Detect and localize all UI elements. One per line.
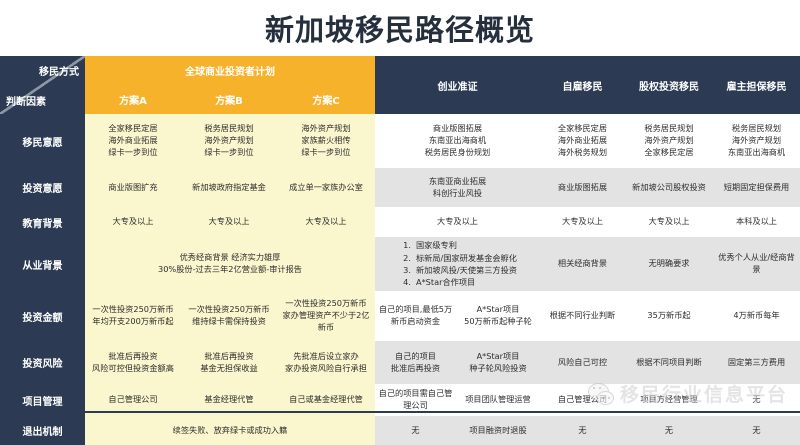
cell-lines: 批准后再投资 风险可控但投资金额高 [85,349,181,377]
cell-migration-equity: 税务居民规划 海外资产规划 全家移民定居 [625,114,713,168]
cell-lines: 项目方经营管理 [625,392,713,408]
line: 家族薪火相传 [301,135,350,147]
cell-experience-self-employed: 相关经商背景 [540,237,625,291]
line: 绿卡一步到位 [204,147,253,159]
line: 一次性投资250万新币 [188,304,269,316]
line: 一次性投资250万新币 [92,304,173,316]
cell-amount-entrepass-astar: A*Star项目 50万新币起种子轮 [456,291,540,341]
cell-lines: 一次性投资250万新币 年均开支200万新币起 [85,302,181,330]
cell-lines: 大专及以上 [85,214,181,230]
line: 优秀个人从业/经商背景 [716,252,797,276]
list-number: 4. [402,276,411,288]
cell-education-plan-a: 大专及以上 [85,207,181,237]
header-group-gip[interactable]: 全球商业投资者计划 [85,56,375,85]
cell-amount-plan-c: 一次性投资250万新币 家办管理资产不少于2亿新币 [277,291,375,341]
cell-lines: 大专及以上 [277,214,375,230]
cell-lines: 新加坡公司股权投资 [625,180,713,196]
cell-invintent-employer: 短期固定担保费用 [713,168,800,207]
list-text: 标新局/国家研发基金会孵化 [416,252,517,264]
cell-lines: 无明确要求 [625,256,713,272]
cell-exit-entrepass-astar: 项目融资时退股 [456,416,540,445]
line: 海外资产规划 [301,123,350,135]
line: 无 [752,425,760,437]
line: 大专及以上 [209,216,250,228]
cell-lines: 大专及以上 [540,214,625,230]
line: 大专及以上 [306,216,347,228]
line: 大专及以上 [113,216,154,228]
list-text: A*Star合作项目 [416,276,475,288]
line: 批准后再投资 [391,363,440,375]
cell-risk-entrepass-astar: A*Star项目 种子轮风险投资 [456,341,540,384]
header-plan-a[interactable]: 方案A [85,85,181,114]
cell-lines: 项目团队管理运营 [456,392,540,408]
cell-lines: 1.国家级专利 2.标新局/国家研发基金会孵化 3.新加坡风投/天使第三方投资 … [375,237,540,290]
cell-lines: 海外资产规划 家族薪火相传 绿卡一步到位 [277,121,375,161]
line: 批准后再投资 [108,351,157,363]
line: 大专及以上 [562,216,603,228]
table-row: 移民意愿 全家移民定居 海外商业拓展 绿卡一步到位 税务居民规划 海外资产规划 … [0,114,800,168]
row-label-education: 教育背景 [0,207,85,237]
line: 无 [752,394,760,406]
cell-lines: 自己的项目 批准后再投资 [375,349,456,377]
cell-exit-self-employed: 无 [540,416,625,445]
line: 优秀经商背景 经济实力雄厚 [180,252,281,264]
cell-invintent-plan-b: 新加坡政府指定基金 [181,168,277,207]
table-row: 投资风险 批准后再投资 风险可控但投资金额高 批准后再投资 基金无担保收益 先批… [0,341,800,384]
cell-migration-plan-a: 全家移民定居 海外商业拓展 绿卡一步到位 [85,114,181,168]
line: 海外税务规划 [558,147,607,159]
cell-amount-plan-b: 一次性投资250万新币 维持绿卡需保持投资 [181,291,277,341]
line: 续签失败、放弃绿卡或成功入籍 [173,425,288,437]
line: 自己的项目需自己管理公司 [378,388,453,412]
header-entrepass[interactable]: 创业准证 [375,56,540,114]
line: 自己管理公司 [108,394,157,406]
header-self-employed[interactable]: 自雇移民 [540,56,625,114]
line: 年均开支200万新币起 [92,316,173,328]
list-item: 2.标新局/国家研发基金会孵化 [402,252,517,264]
header-corner-bottom: 判断因素 [6,93,46,108]
line: 35万新币起 [647,310,690,322]
cell-migration-employer: 税务居民规划 海外资产规划 东南亚出海商机 [713,114,800,168]
line: 全家移民定居 [558,123,607,135]
table-header-row-1: 移民方式 判断因素 全球商业投资者计划 创业准证 自雇移民 股权投资移民 雇主担… [0,56,800,85]
cell-lines: A*Star项目 种子轮风险投资 [456,349,540,377]
cell-lines: 先批准后设立家办 家办投资风险自行承担 [277,349,375,377]
cell-lines: A*Star项目 50万新币起种子轮 [456,302,540,330]
list-number: 1. [402,239,411,251]
cell-lines: 税务居民规划 海外资产规划 绿卡一步到位 [181,121,277,161]
line: 新加坡政府指定基金 [192,182,266,194]
row-label-investment-intent: 投资意愿 [0,168,85,207]
line: 本科及以上 [736,216,777,228]
line: 自己的项目,最低5万新币启动资金 [378,304,453,328]
cell-lines: 4万新币每年 [713,308,800,324]
line: 海外商业拓展 [558,135,607,147]
cell-lines: 固定第三方费用 [713,355,800,371]
line: 风险可控但投资金额高 [92,363,174,375]
cell-lines: 大专及以上 [181,214,277,230]
page-title: 新加坡移民路径概览 [0,0,800,56]
cell-amount-entrepass-own: 自己的项目,最低5万新币启动资金 [375,291,456,341]
line: 无 [665,425,673,437]
line: 税务居民规划 [204,123,253,135]
line: 根据不同项目判断 [636,357,702,369]
header-corner-cell: 移民方式 判断因素 [0,56,85,114]
cell-migration-plan-b: 税务居民规划 海外资产规划 绿卡一步到位 [181,114,277,168]
cell-amount-equity: 35万新币起 [625,291,713,341]
cell-amount-self-employed: 根据不同行业判断 [540,291,625,341]
list-item: 4.A*Star合作项目 [402,276,517,288]
cell-lines: 相关经商背景 [540,256,625,272]
list-number: 3. [402,264,411,276]
header-corner-top: 移民方式 [39,63,79,78]
table-row: 退出机制 续签失败、放弃绿卡或成功入籍 无 项目融资时退股 无 无 无 [0,416,800,445]
cell-lines: 风险自己可控 [540,355,625,371]
line: 自己管理公司 [558,394,607,406]
cell-risk-plan-b: 批准后再投资 基金无担保收益 [181,341,277,384]
cell-lines: 税务居民规划 海外资产规划 全家移民定居 [625,121,713,161]
list-number: 2. [402,252,411,264]
cell-lines: 一次性投资250万新币 家办管理资产不少于2亿新币 [277,296,375,336]
line: 税务居民身份规划 [425,147,491,159]
line: 东南亚出海商机 [429,135,486,147]
line: 无 [578,425,586,437]
line: 海外商业拓展 [108,135,157,147]
table-row: 教育背景 大专及以上 大专及以上 大专及以上 大专及以上 大专及以上 大专及以上… [0,207,800,237]
cell-invintent-plan-c: 成立单一家族办公室 [277,168,375,207]
cell-lines: 大专及以上 [375,214,540,230]
cell-exit-entrepass-own: 无 [375,416,456,445]
cell-migration-entrepass: 商业版图拓展 东南亚出海商机 税务居民身份规划 [375,114,540,168]
cell-amount-employer: 4万新币每年 [713,291,800,341]
line: 自己或基金经理代管 [289,394,363,406]
line: 绿卡一步到位 [301,147,350,159]
line: 绿卡一步到位 [108,147,157,159]
header-plan-b[interactable]: 方案B [181,85,277,114]
requirement-list: 1.国家级专利 2.标新局/国家研发基金会孵化 3.新加坡风投/天使第三方投资 … [398,239,517,288]
cell-lines: 自己或基金经理代管 [277,392,375,408]
table-row: 投资意愿 商业版图扩充 新加坡政府指定基金 成立单一家族办公室 东南亚商业拓展 … [0,168,800,207]
table-row: 投资金额 一次性投资250万新币 年均开支200万新币起 一次性投资250万新币… [0,291,800,341]
line: 大专及以上 [649,216,690,228]
line: 新加坡公司股权投资 [632,182,706,194]
cell-lines: 东南亚商业拓展 科创行业风投 [375,174,540,202]
row-label-amount: 投资金额 [0,291,85,341]
line: 30%股份-过去三年2亿营业额-审计报告 [158,264,302,276]
line: 成立单一家族办公室 [289,182,363,194]
cell-exit-employer: 无 [713,416,800,445]
cell-lines: 根据不同行业判断 [540,308,625,324]
cell-invintent-plan-a: 商业版图扩充 [85,168,181,207]
row-label-exit: 退出机制 [0,416,85,445]
cell-migration-self-employed: 全家移民定居 海外商业拓展 海外税务规划 [540,114,625,168]
line: 税务居民规划 [732,123,781,135]
cell-risk-equity: 根据不同项目判断 [625,341,713,384]
cell-lines: 新加坡政府指定基金 [181,180,277,196]
table-row: 从业背景 优秀经商背景 经济实力雄厚 30%股份-过去三年2亿营业额-审计报告 … [0,237,800,291]
row-label-experience: 从业背景 [0,237,85,291]
cell-risk-entrepass-own: 自己的项目 批准后再投资 [375,341,456,384]
line: 根据不同行业判断 [550,310,616,322]
cell-lines: 税务居民规划 海外资产规划 东南亚出海商机 [713,121,800,161]
line: 种子轮风险投资 [469,363,526,375]
cell-risk-self-employed: 风险自己可控 [540,341,625,384]
line: 海外资产规划 [732,135,781,147]
cell-education-equity: 大专及以上 [625,207,713,237]
line: 维持绿卡需保持投资 [192,316,266,328]
cell-lines: 短期固定担保费用 [713,180,800,196]
cell-lines: 商业版图扩充 [85,180,181,196]
cell-lines: 大专及以上 [625,214,713,230]
cell-lines: 成立单一家族办公室 [277,180,375,196]
line: 家办投资风险自行承担 [285,363,367,375]
cell-lines: 基金经理代管 [181,392,277,408]
cell-migration-plan-c: 海外资产规划 家族薪火相传 绿卡一步到位 [277,114,375,168]
cell-lines: 根据不同项目判断 [625,355,713,371]
line: 科创行业风投 [433,188,482,200]
header-equity-investment[interactable]: 股权投资移民 [625,56,713,114]
list-item: 1.国家级专利 [402,239,517,251]
infographic-page: 新加坡移民路径概览 移民方式 判断因素 全球商业投资者计划 创业准证 自雇移民 … [0,0,800,425]
line: 批准后再投资 [204,351,253,363]
cell-education-plan-c: 大专及以上 [277,207,375,237]
cell-lines: 优秀个人从业/经商背景 [713,250,800,278]
line: 一次性投资250万新币 [285,298,366,310]
list-text: 新加坡风投/天使第三方投资 [416,264,517,276]
cell-experience-employer: 优秀个人从业/经商背景 [713,237,800,291]
line: 无明确要求 [649,258,690,270]
line: 先批准后设立家办 [293,351,359,363]
cell-experience-entrepass: 1.国家级专利 2.标新局/国家研发基金会孵化 3.新加坡风投/天使第三方投资 … [375,237,540,291]
cell-lines: 商业版图拓展 [540,180,625,196]
cell-risk-plan-a: 批准后再投资 风险可控但投资金额高 [85,341,181,384]
line: A*Star项目 [477,351,520,363]
cell-lines: 自己的项目需自己管理公司 [375,386,456,414]
line: A*Star项目 [477,304,520,316]
cell-experience-gip: 优秀经商背景 经济实力雄厚 30%股份-过去三年2亿营业额-审计报告 [85,237,375,291]
cell-education-employer: 本科及以上 [713,207,800,237]
line: 全家移民定居 [108,123,157,135]
cell-lines: 优秀经商背景 经济实力雄厚 30%股份-过去三年2亿营业额-审计报告 [85,250,375,278]
cell-lines: 自己管理公司 [85,392,181,408]
cell-experience-equity: 无明确要求 [625,237,713,291]
cell-lines: 自己的项目,最低5万新币启动资金 [375,302,456,330]
line: 风险自己可控 [558,357,607,369]
cell-invintent-self-employed: 商业版图拓展 [540,168,625,207]
cell-education-self-employed: 大专及以上 [540,207,625,237]
line: 项目方经营管理 [640,394,697,406]
line: 商业版图拓展 [558,182,607,194]
cell-education-plan-b: 大专及以上 [181,207,277,237]
line: 相关经商背景 [558,258,607,270]
list-item: 3.新加坡风投/天使第三方投资 [402,264,517,276]
line: 4万新币每年 [733,310,779,322]
cell-lines: 批准后再投资 基金无担保收益 [181,349,277,377]
header-employer-sponsored[interactable]: 雇主担保移民 [713,56,800,114]
line: 基金经理代管 [204,394,253,406]
cell-lines: 一次性投资250万新币 维持绿卡需保持投资 [181,302,277,330]
cell-lines: 本科及以上 [713,214,800,230]
line: 基金无担保收益 [200,363,257,375]
cell-amount-plan-a: 一次性投资250万新币 年均开支200万新币起 [85,291,181,341]
line: 项目团队管理运营 [465,394,531,406]
row-label-migration-intent: 移民意愿 [0,114,85,168]
cell-education-entrepass: 大专及以上 [375,207,540,237]
cell-exit-equity: 无 [625,416,713,445]
cell-lines: 自己管理公司 [540,392,625,408]
line: 家办管理资产不少于2亿新币 [280,310,372,334]
cell-invintent-equity: 新加坡公司股权投资 [625,168,713,207]
line: 税务居民规划 [644,123,693,135]
cell-lines: 商业版图拓展 东南亚出海商机 税务居民身份规划 [375,121,540,161]
header-plan-c[interactable]: 方案C [277,85,375,114]
line: 自己的项目 [395,351,436,363]
cell-risk-employer: 固定第三方费用 [713,341,800,384]
immigration-comparison-table: 移民方式 判断因素 全球商业投资者计划 创业准证 自雇移民 股权投资移民 雇主担… [0,56,800,445]
cell-lines: 全家移民定居 海外商业拓展 海外税务规划 [540,121,625,161]
cell-lines: 无 [713,392,800,408]
line: 项目融资时退股 [469,425,526,437]
cell-lines: 全家移民定居 海外商业拓展 绿卡一步到位 [85,121,181,161]
line: 全家移民定居 [644,147,693,159]
cell-exit-gip: 续签失败、放弃绿卡或成功入籍 [85,416,375,445]
cell-risk-plan-c: 先批准后设立家办 家办投资风险自行承担 [277,341,375,384]
line: 50万新币起种子轮 [464,316,532,328]
cell-lines: 35万新币起 [625,308,713,324]
cell-invintent-entrepass: 东南亚商业拓展 科创行业风投 [375,168,540,207]
line: 商业版图扩充 [108,182,157,194]
line: 商业版图拓展 [433,123,482,135]
line: 海外资产规划 [644,135,693,147]
line: 海外资产规划 [204,135,253,147]
line: 无 [411,425,419,437]
line: 固定第三方费用 [728,357,785,369]
line: 大专及以上 [437,216,478,228]
line: 短期固定担保费用 [724,182,790,194]
line: 东南亚商业拓展 [429,176,486,188]
list-text: 国家级专利 [416,239,457,251]
bottom-rule [0,411,800,413]
row-label-risk: 投资风险 [0,341,85,384]
line: 东南亚出海商机 [728,147,785,159]
